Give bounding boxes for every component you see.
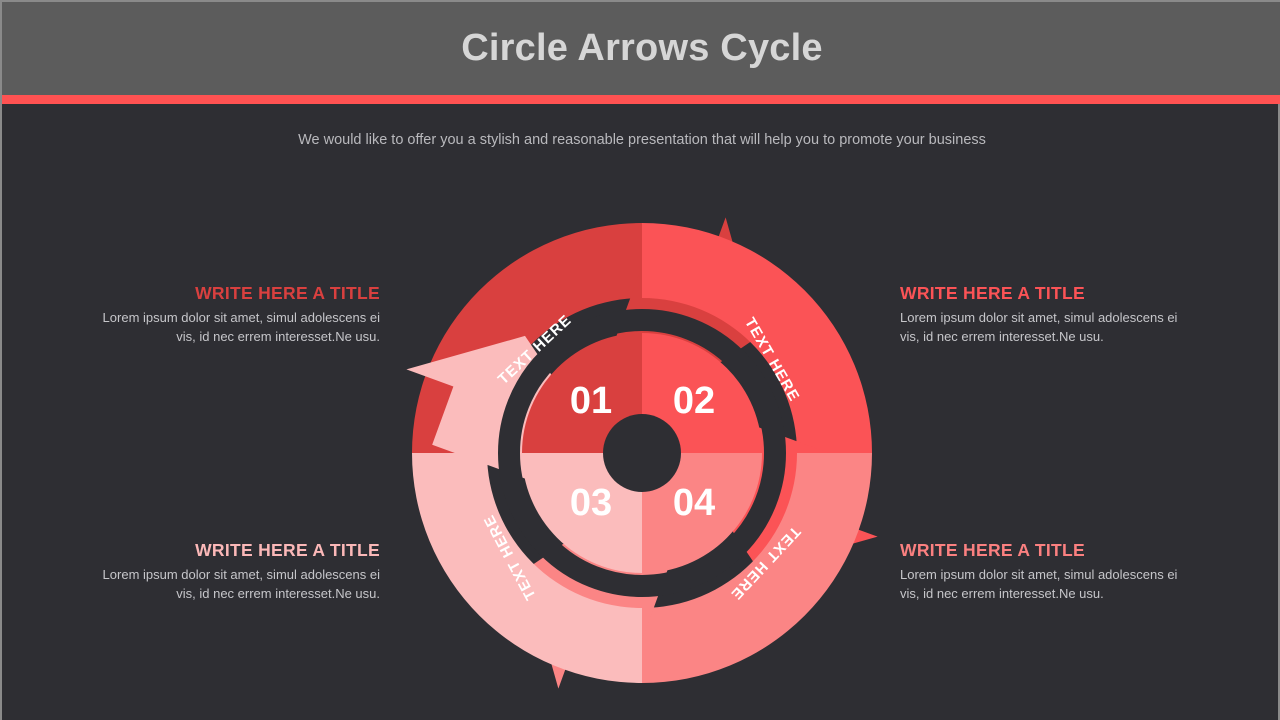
text-block-bottom-right: WRITE HERE A TITLE Lorem ipsum dolor sit… [900, 540, 1190, 604]
slide-subtitle: We would like to offer you a stylish and… [2, 132, 1280, 148]
block-title: WRITE HERE A TITLE [90, 540, 380, 561]
segment-number-02: 02 [673, 380, 715, 422]
segment-number-03: 03 [570, 482, 612, 524]
segment-number-01: 01 [570, 380, 612, 422]
block-title: WRITE HERE A TITLE [90, 283, 380, 304]
text-block-top-left: WRITE HERE A TITLE Lorem ipsum dolor sit… [90, 283, 380, 347]
segment-number-04: 04 [673, 482, 715, 524]
block-body: Lorem ipsum dolor sit amet, simul adoles… [90, 566, 380, 604]
block-title: WRITE HERE A TITLE [900, 283, 1190, 304]
page-title: Circle Arrows Cycle [461, 27, 822, 70]
accent-divider [2, 95, 1280, 104]
center-hub [603, 414, 681, 492]
circle-arrows-cycle-diagram: 01 02 03 04 TEXT HERE TEXT HERE TEXT HER… [382, 195, 902, 705]
text-block-bottom-left: WRITE HERE A TITLE Lorem ipsum dolor sit… [90, 540, 380, 604]
slide-canvas: Circle Arrows Cycle We would like to off… [0, 0, 1280, 720]
slide-header: Circle Arrows Cycle [2, 0, 1280, 95]
block-body: Lorem ipsum dolor sit amet, simul adoles… [900, 309, 1190, 347]
block-body: Lorem ipsum dolor sit amet, simul adoles… [900, 566, 1190, 604]
block-body: Lorem ipsum dolor sit amet, simul adoles… [90, 309, 380, 347]
block-title: WRITE HERE A TITLE [900, 540, 1190, 561]
text-block-top-right: WRITE HERE A TITLE Lorem ipsum dolor sit… [900, 283, 1190, 347]
